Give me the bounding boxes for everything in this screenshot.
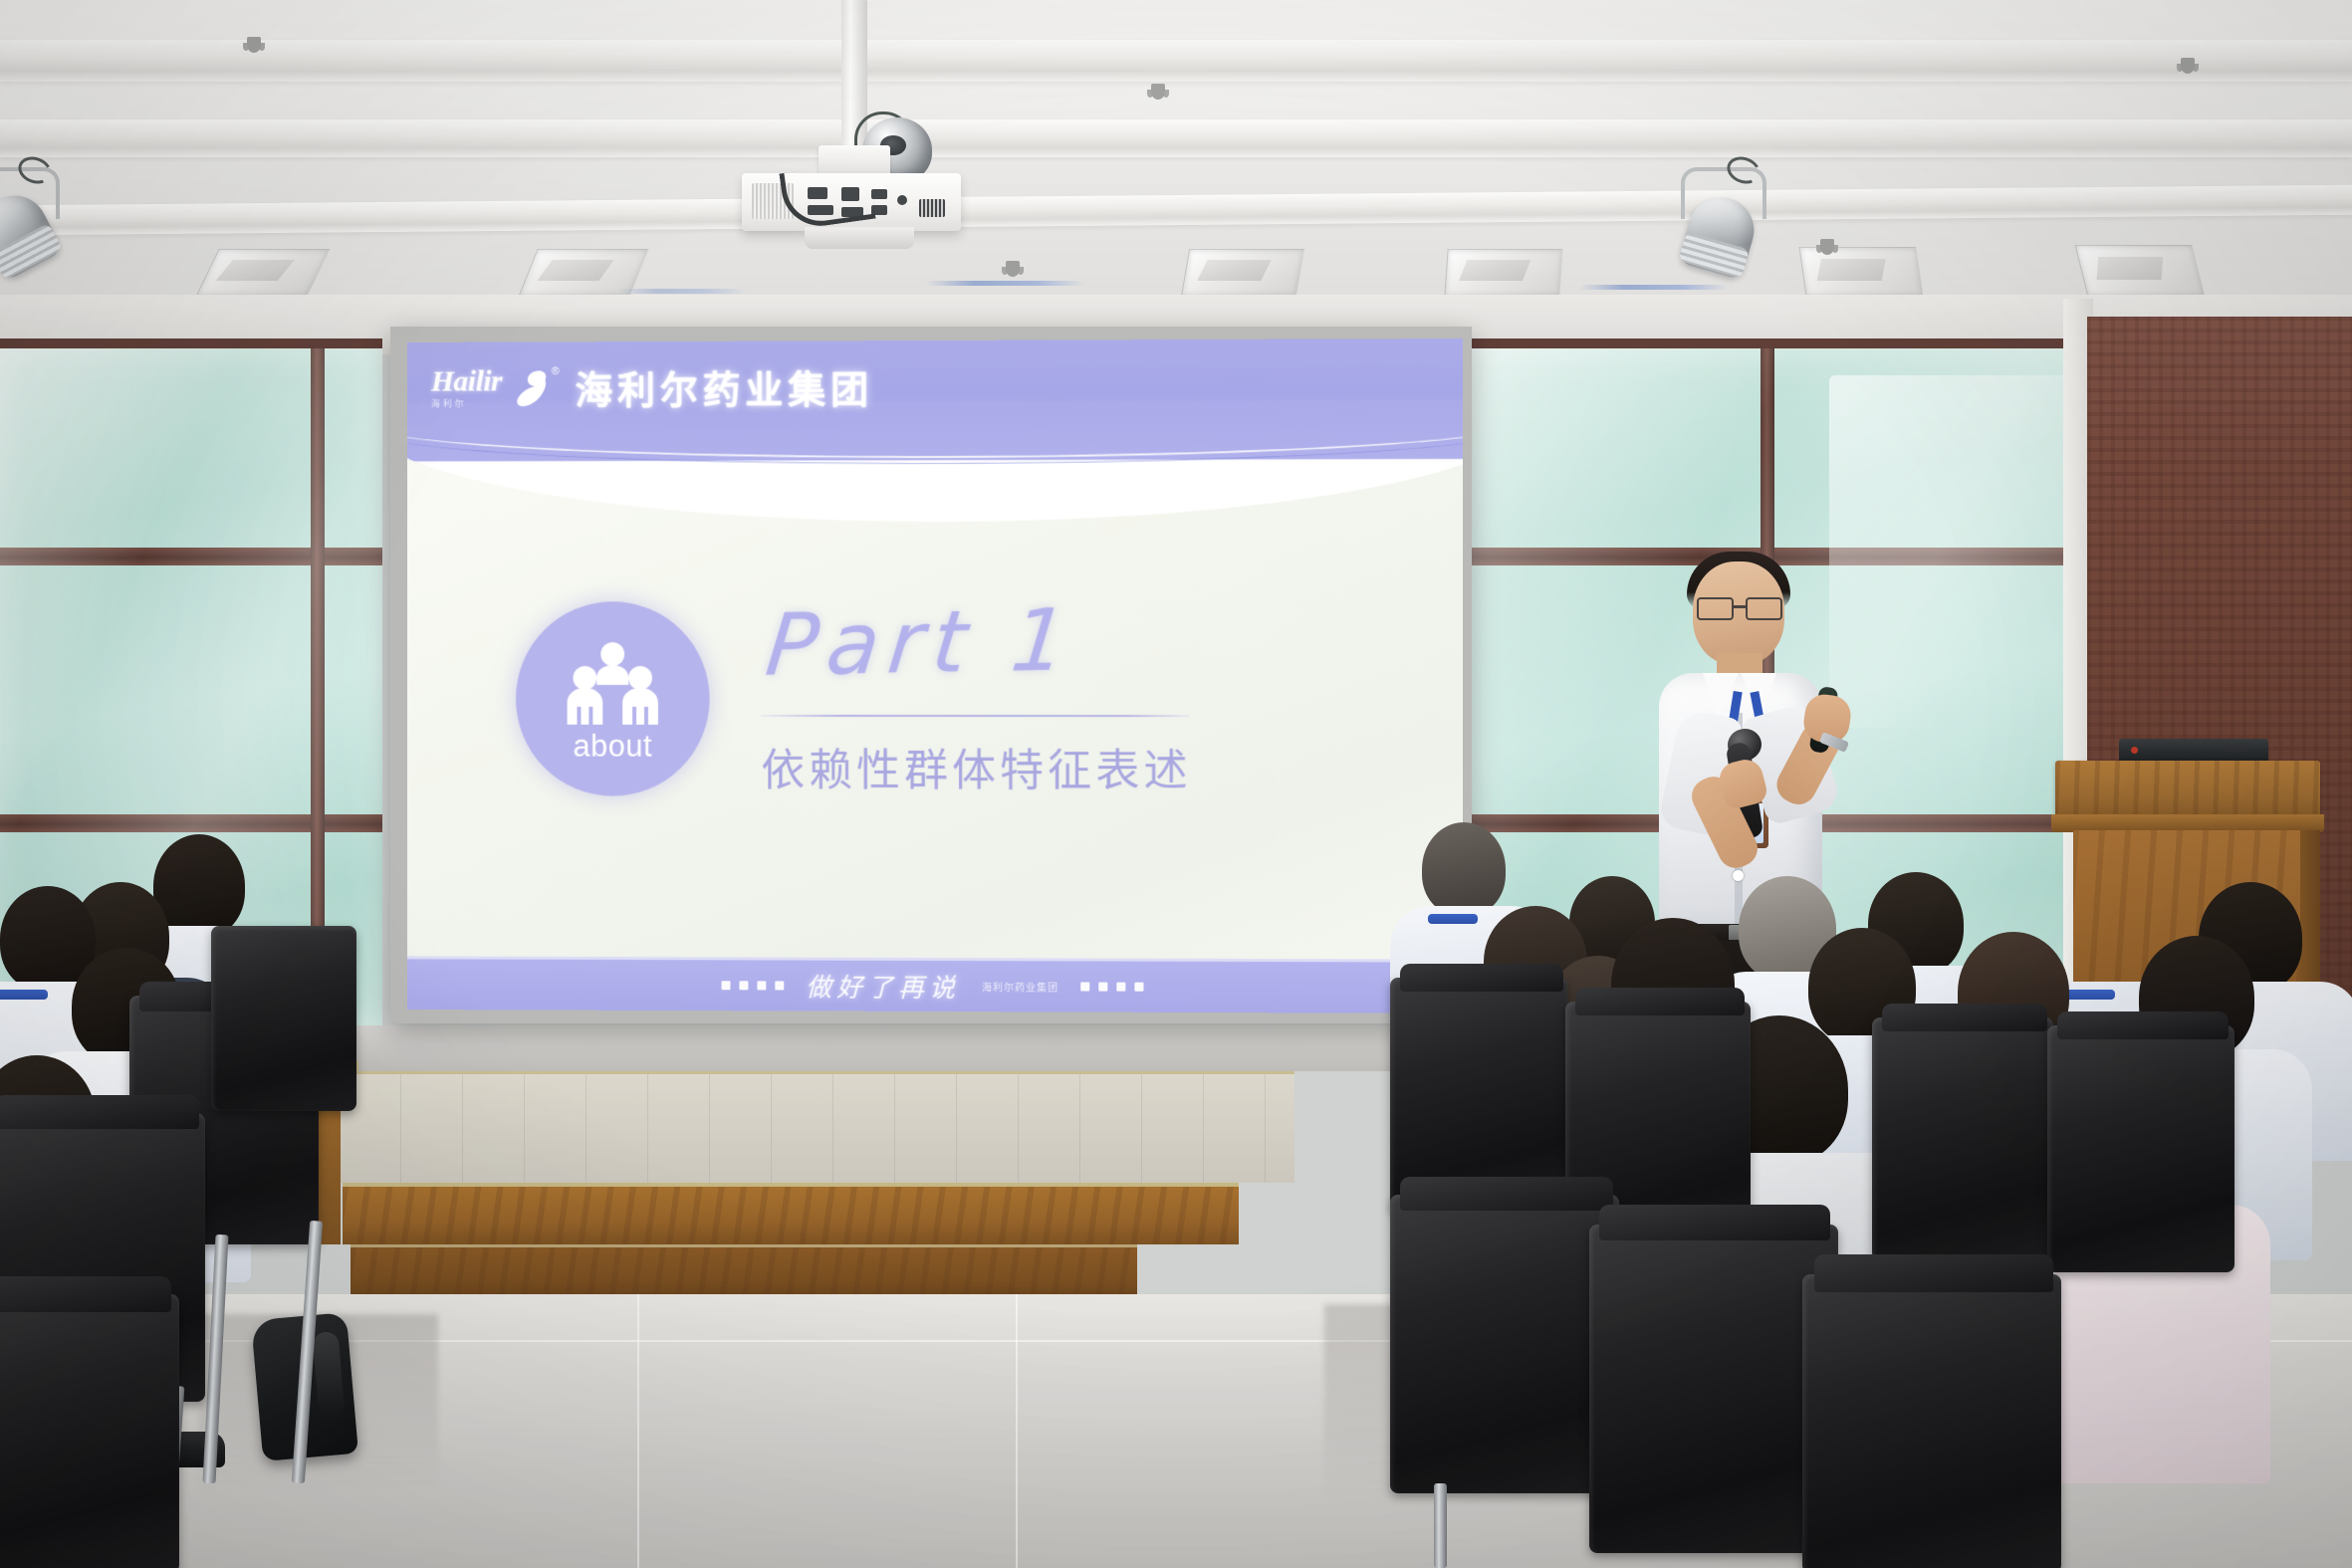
brand-lockup: Hailir 海利尔 ® 海利尔药业集团 [431,358,873,414]
slide-title-column: Part 1 依赖性群体特征表述 [753,599,1191,799]
ceiling-beam [0,185,2352,236]
audience-chair-headrest[interactable] [1814,1254,2053,1292]
ceiling-beam [0,119,2352,157]
ceiling-light-strip [926,281,1085,286]
audience-chair-headrest[interactable] [1400,964,1563,992]
footer-slogan: 做好了再说 [806,968,960,1006]
audience-chair-headrest[interactable] [2057,1011,2229,1039]
projection-screen: Hailir 海利尔 ® 海利尔药业集团 [390,327,1472,1023]
ceiling-light-strip [617,289,747,294]
ceiling-vent [2075,245,2206,297]
ceiling [0,0,2352,329]
footer-dots-right [1080,983,1143,992]
audience-chair[interactable] [0,1294,179,1568]
sprinkler-head [1151,84,1165,100]
lanyard-band [1428,914,1478,924]
brand-latin-sub: 海利尔 [431,399,502,408]
slide-part-title: Part 1 [762,595,1196,689]
audience-chair[interactable] [2047,1025,2234,1272]
brand-latin-name: Hailir [431,366,502,396]
sprinkler-head [2181,58,2195,74]
stage-step-upper [343,1183,1239,1244]
about-badge: about [516,601,710,796]
brand-chinese-name: 海利尔药业集团 [576,358,874,414]
footer-small-text: 海利尔药业集团 [982,979,1058,994]
audience-chair-headrest[interactable] [1400,1177,1613,1211]
audience-chair-headrest[interactable] [1882,1004,2047,1031]
stage-platform [339,1071,1294,1183]
ceiling-vent [1444,249,1562,297]
sprinkler-head [1820,239,1834,255]
conference-hall-scene: Hailir 海利尔 ® 海利尔药业集团 [0,0,2352,1568]
sprinkler-head [1006,261,1020,277]
audience-head [1422,822,1506,916]
audience-chair[interactable] [1589,1225,1838,1553]
about-label: about [573,729,651,765]
audience-chair[interactable] [1390,1195,1619,1493]
audience-chair[interactable] [211,926,356,1111]
ceiling-vent [1798,247,1923,297]
ceiling-beam [0,40,2352,82]
audience-chair-headrest[interactable] [0,1095,199,1129]
brand-latin-lockup: Hailir 海利尔 [431,366,502,408]
eyeglasses-icon [1695,597,1784,617]
audience-chair[interactable] [1872,1017,2053,1260]
slide-subtitle: 依赖性群体特征表述 [761,735,1191,798]
presentation-slide: Hailir 海利尔 ® 海利尔药业集团 [407,338,1463,1013]
podium-top-surface [2055,761,2320,820]
chair-leg [1434,1483,1447,1568]
laptop-device [2119,739,2268,763]
projector-lens [805,227,914,249]
audience-chair[interactable] [1802,1274,2061,1568]
registered-mark: ® [552,365,560,377]
ceiling-light-strip [1579,285,1729,290]
ceiling-vent [195,249,330,297]
slide-footer-band: 做好了再说 海利尔药业集团 [407,956,1463,1013]
lanyard-band [0,990,48,1000]
hailir-swoosh-icon: ® [510,367,554,407]
audience-chair-headrest[interactable] [1575,988,1745,1015]
audience-chair-headrest[interactable] [1599,1205,1830,1240]
audience-chair-headrest[interactable] [0,1276,171,1312]
people-group-icon [562,641,664,727]
slide-body: about Part 1 依赖性群体特征表述 [407,489,1463,909]
footer-dots-left [722,981,785,990]
title-divider-rule [761,715,1189,717]
sprinkler-head [247,37,261,53]
ceiling-vent [1181,249,1304,297]
